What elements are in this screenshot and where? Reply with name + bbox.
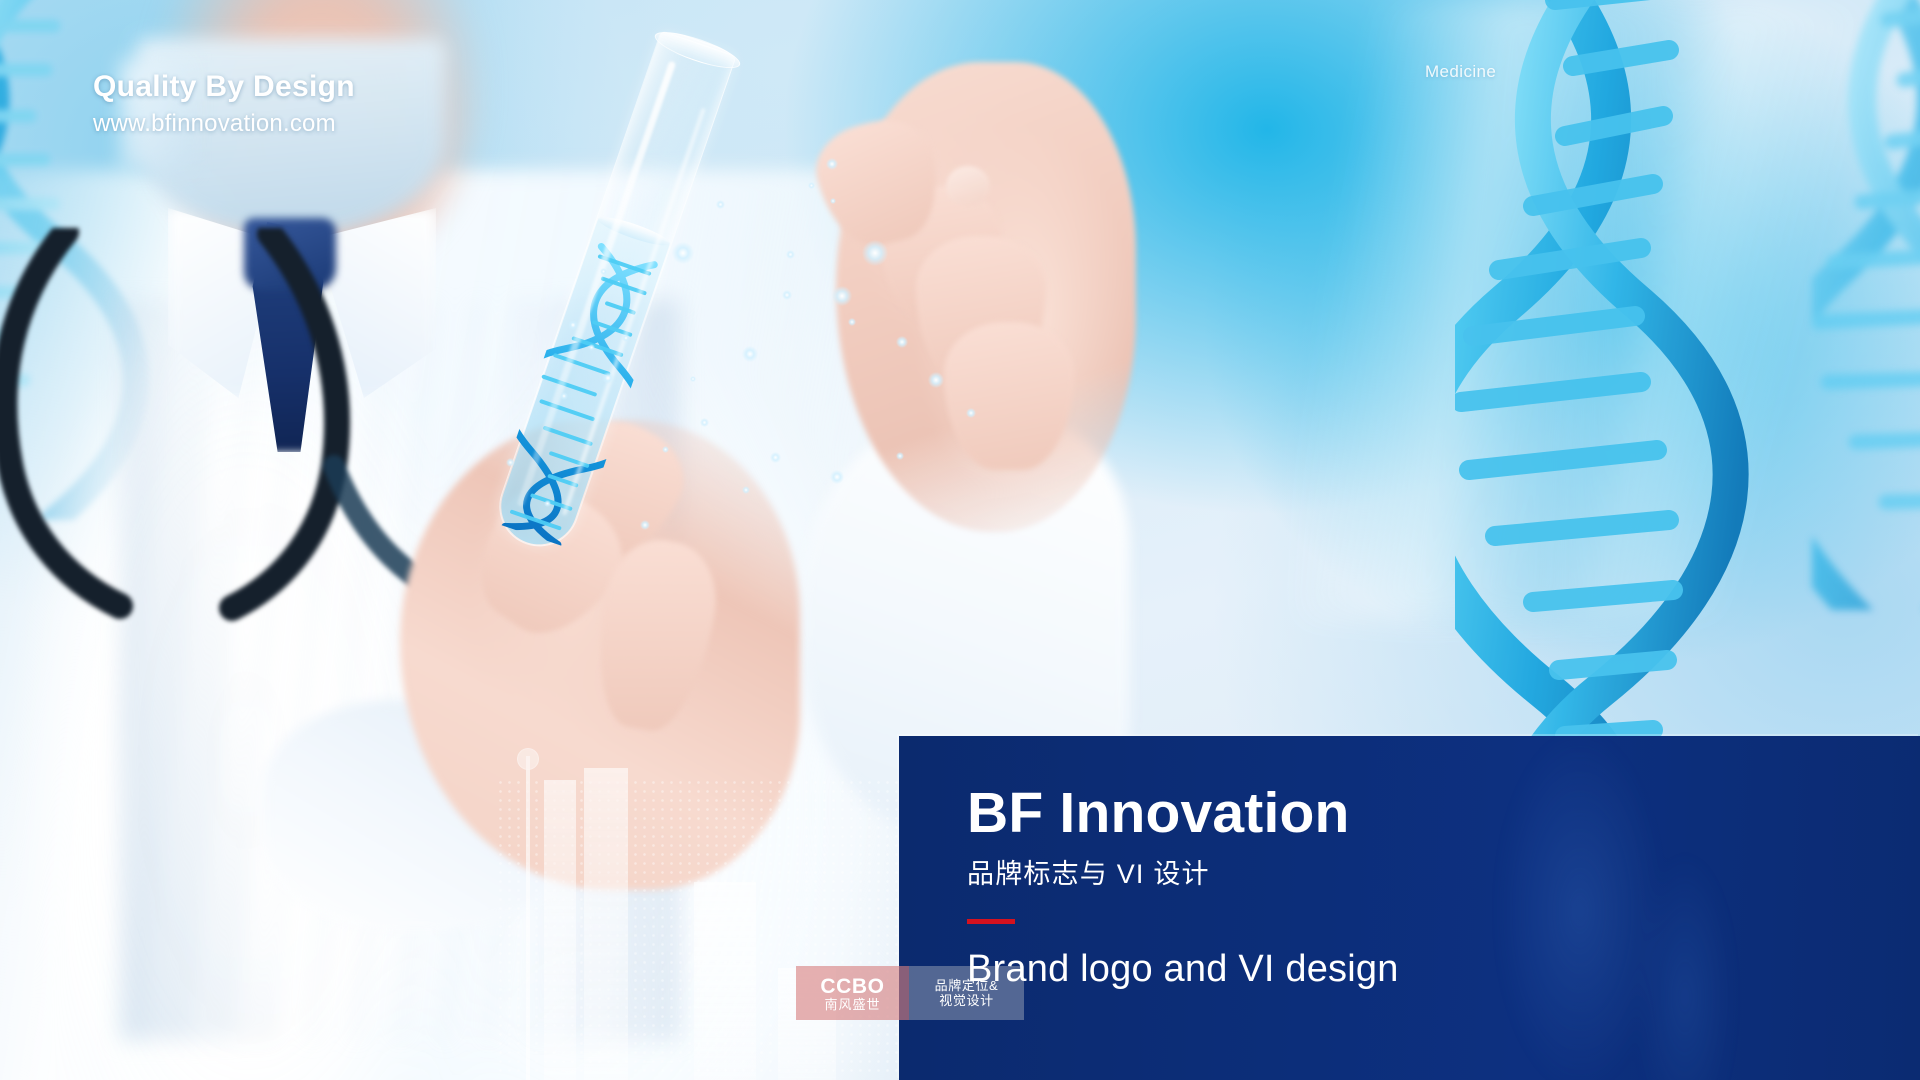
finger-3 bbox=[944, 322, 1074, 470]
brand-block: Quality By Design www.bfinnovation.com bbox=[93, 70, 355, 138]
watermark-logo: CCBO 南风盛世 bbox=[796, 966, 909, 1020]
brand-tagline: Quality By Design bbox=[93, 70, 355, 104]
watermark-logo-text: CCBO bbox=[820, 976, 884, 997]
poster-canvas: Quality By Design www.bfinnovation.com M… bbox=[0, 0, 1920, 1080]
dna-helix-far-right-icon bbox=[1812, 0, 1920, 610]
accent-divider bbox=[967, 919, 1015, 924]
watermark-logo-cn: 南风盛世 bbox=[824, 998, 880, 1011]
project-subtitle-cn: 品牌标志与 VI 设计 bbox=[967, 852, 1920, 891]
info-panel-content: BF Innovation 品牌标志与 VI 设计 Brand logo and… bbox=[899, 736, 1920, 991]
watermark-service-line-2: 视觉设计 bbox=[939, 994, 993, 1007]
fingernail-1 bbox=[946, 166, 990, 206]
bar-chart-bar bbox=[694, 882, 756, 1080]
bar-chart-bar bbox=[544, 780, 576, 1080]
bar-chart-marker bbox=[517, 748, 539, 770]
project-title: BF Innovation bbox=[967, 784, 1920, 842]
bar-chart-axis bbox=[526, 756, 530, 1080]
project-subtitle-en: Brand logo and VI design bbox=[967, 948, 1920, 991]
bar-chart-bar bbox=[584, 768, 628, 1080]
info-panel: BF Innovation 品牌标志与 VI 设计 Brand logo and… bbox=[899, 736, 1920, 1080]
brand-url[interactable]: www.bfinnovation.com bbox=[93, 110, 355, 138]
category-label: Medicine bbox=[1425, 62, 1496, 82]
